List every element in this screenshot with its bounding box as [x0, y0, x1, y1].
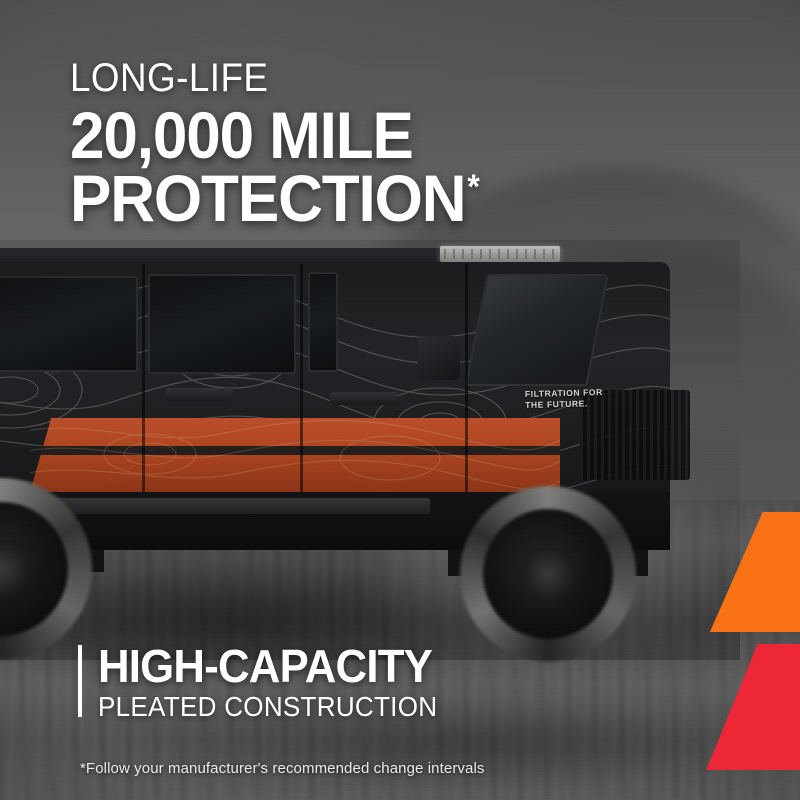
front-quarter-window — [308, 272, 338, 372]
headline-line-2: PROTECTION* — [70, 167, 672, 229]
headline-line-1: 20,000 MILE — [70, 104, 672, 166]
windshield — [465, 274, 609, 386]
mid-side-window — [148, 274, 296, 374]
fender-slogan-line1: FILTRATION FOR — [525, 387, 603, 400]
subhead-divider-bar — [78, 645, 82, 717]
subhead-secondary: PLEATED CONSTRUCTION — [98, 693, 437, 721]
rear-door-handle — [165, 388, 233, 401]
headline-kicker: LONG-LIFE — [70, 58, 659, 98]
jeep-vehicle: K& N. — [0, 240, 740, 660]
roof-light-bar — [440, 246, 560, 262]
front-door-handle — [330, 392, 398, 405]
stripe-topographic-pattern — [30, 418, 560, 492]
rock-rail — [10, 498, 430, 514]
headline-asterisk: * — [467, 168, 478, 206]
advertisement-banner: K& N. — [0, 0, 800, 800]
front-wheel-hub — [520, 546, 576, 602]
front-wheel — [460, 486, 636, 662]
fender-slogan-line2: THE FUTURE. — [525, 398, 603, 411]
rear-side-window — [0, 276, 138, 372]
footnote-text: *Follow your manufacturer's recommended … — [80, 760, 484, 777]
side-mirror — [418, 336, 460, 380]
headline-line-2-text: PROTECTION — [70, 161, 465, 235]
fender-slogan: FILTRATION FOR THE FUTURE. — [525, 387, 603, 410]
subhead-main: HIGH-CAPACITY — [98, 643, 432, 689]
headline-block: LONG-LIFE 20,000 MILE PROTECTION* — [70, 58, 710, 229]
